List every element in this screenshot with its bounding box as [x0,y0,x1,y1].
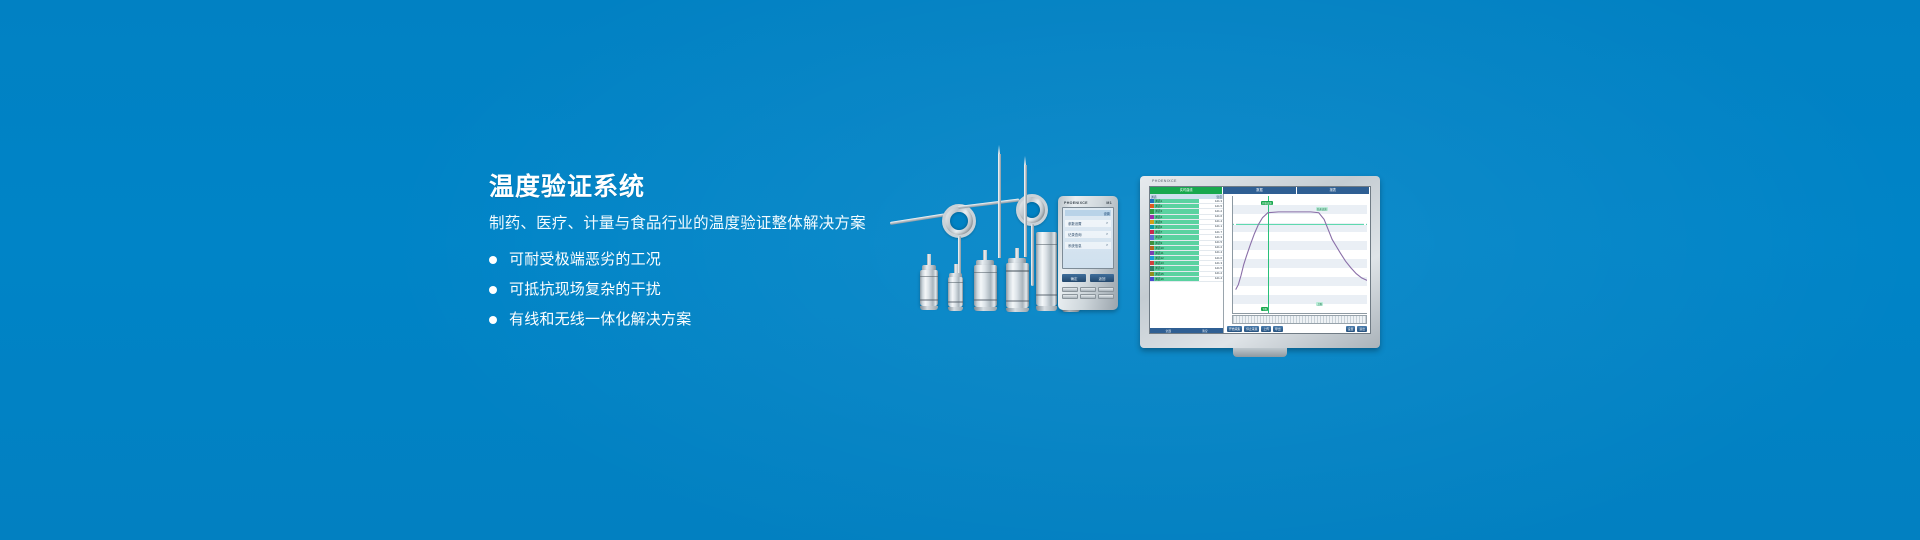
select-all-button[interactable]: 全选 [1165,329,1171,333]
chevron-right-icon: > [1106,243,1108,248]
start-acquisition-button[interactable]: 开始采集 [1227,326,1242,332]
channel-name-cell: 通道6 [1154,225,1199,229]
logger-base [974,307,997,311]
stop-acquisition-button[interactable]: 停止采集 [1244,326,1259,332]
channel-name-cell: 通道16 [1154,277,1199,281]
channel-name-cell: 通道4 [1154,215,1199,219]
feature-bullet-label: 可耐受极端恶劣的工况 [509,251,661,269]
handheld-key[interactable] [1080,287,1096,292]
channel-name-cell: 通道15 [1154,272,1199,276]
exit-button[interactable]: 退出 [1357,326,1367,332]
logger-base [1036,306,1057,311]
feature-bullet-label: 可抵抗现场复杂的干扰 [509,281,661,299]
logger-neck [1015,248,1019,258]
handheld-key[interactable] [1062,287,1078,292]
handheld-menu-item[interactable]: 参数设置 > [1065,220,1111,227]
validation-software-monitor: PHOENIXCE 实时曲线 数据 报表 通道 温度 通道1121.3通道212… [1140,176,1380,348]
column-header-channel: 通道 [1151,195,1157,199]
channel-name-cell: 通道9 [1154,241,1199,245]
channel-name-cell: 通道2 [1154,204,1199,208]
tab-realtime-curve[interactable]: 实时曲线 [1150,187,1223,194]
handheld-key[interactable] [1098,287,1114,292]
needle-tip-icon [998,145,1000,154]
logger-body [1036,232,1057,306]
monitor-screen: 实时曲线 数据 报表 通道 温度 通道1121.3通道2121.5通道3121.… [1149,186,1371,334]
handheld-brand-label: PHOENIXCE [1064,201,1088,205]
handheld-menu-item[interactable]: 系统信息 > [1065,242,1111,249]
temperature-curve-chart: 开始灭菌 结束灭菌 下限 上限 [1232,196,1367,314]
logger-body [1006,263,1029,308]
channel-name-cell: 通道7 [1154,230,1199,234]
bullet-dot-icon [489,286,497,294]
handheld-menu-label: 系统信息 [1068,243,1082,248]
handheld-back-button[interactable]: 返回 [1090,274,1114,282]
hero-banner: 温度验证系统 制药、医疗、计量与食品行业的温度验证整体解决方案 可耐受极端恶劣的… [0,0,1920,540]
monitor-button-bar: 开始采集 停止采集 上传 导出 设置 退出 [1224,325,1370,333]
logger-base [948,307,963,311]
monitor-brand-label: PHOENIXCE [1152,179,1177,183]
chevron-right-icon: > [1106,221,1108,226]
handheld-key[interactable] [1080,294,1096,299]
hero-subtitle: 制药、医疗、计量与食品行业的温度验证整体解决方案 [489,215,959,234]
feature-bullet-3: 有线和无线一体化解决方案 [489,311,959,329]
feature-bullet-2: 可抵抗现场复杂的干扰 [489,281,959,299]
probe-stem [1031,224,1034,286]
table-row[interactable]: 通道16121.4 [1150,277,1223,282]
chevron-right-icon: > [1106,232,1108,237]
needle-shaft [998,154,1001,258]
logger-base [1006,308,1029,312]
channel-name-cell: 通道14 [1154,266,1199,270]
upload-button[interactable]: 上传 [1261,326,1271,332]
handheld-menu-item[interactable]: 记录查询 > [1065,231,1111,238]
button-bar-spacer [1285,326,1344,332]
timeline-scroll-strip[interactable] [1232,315,1367,324]
logger-body [974,265,997,307]
channel-name-cell: 通道5 [1154,220,1199,224]
bullet-dot-icon [489,256,497,264]
monitor-tab-bar: 实时曲线 数据 报表 [1150,187,1370,194]
monitor-stand [1233,348,1287,357]
channel-name-cell: 通道11 [1154,251,1199,255]
channel-table: 通道 温度 通道1121.3通道2121.5通道3121.2通道4121.6通道… [1150,194,1224,333]
channel-name-cell: 通道8 [1154,235,1199,239]
product-photo-group: PHOENIXCE M1 设置 参数设置 > 记录查询 > 系统信息 > [890,150,1510,390]
table-footer-row: 全选 清空 [1150,328,1223,333]
table-rows: 通道1121.3通道2121.5通道3121.2通道4121.6通道5121.4… [1150,199,1223,282]
handheld-button-row: 确定 返回 [1062,274,1114,282]
probe-coil-ring [1016,194,1048,226]
channel-value-cell: 121.4 [1199,276,1223,281]
handheld-screen: 设置 参数设置 > 记录查询 > 系统信息 > [1062,207,1114,269]
probe-wire [958,198,1020,208]
feature-bullet-label: 有线和无线一体化解决方案 [509,311,691,329]
channel-name-cell: 通道12 [1154,256,1199,260]
channel-name-cell: 通道1 [1154,199,1199,203]
handheld-key[interactable] [1062,294,1078,299]
logger-body [920,270,938,306]
channel-name-cell: 通道13 [1154,261,1199,265]
clear-button[interactable]: 清空 [1202,329,1208,333]
logger-neck [983,250,987,260]
probe-coil-ring [942,204,976,238]
tab-report[interactable]: 报表 [1297,187,1370,194]
curve-path [1233,196,1367,313]
monitor-body: 通道 温度 通道1121.3通道2121.5通道3121.2通道4121.6通道… [1150,194,1370,333]
hero-text-block: 温度验证系统 制药、医疗、计量与食品行业的温度验证整体解决方案 可耐受极端恶劣的… [489,174,959,341]
settings-button[interactable]: 设置 [1346,326,1356,332]
needle-shaft [1024,165,1027,257]
handheld-model-label: M1 [1106,201,1112,205]
bullet-dot-icon [489,316,497,324]
handheld-menu-label: 记录查询 [1068,232,1082,237]
chart-panel: 开始灭菌 结束灭菌 下限 上限 开始采集 [1224,194,1370,333]
channel-name-cell: 通道3 [1154,209,1199,213]
handheld-screen-title: 设置 [1065,210,1111,216]
logger-base [920,306,938,310]
handheld-menu-label: 参数设置 [1068,221,1082,226]
logger-body [948,277,963,307]
handheld-keypad[interactable] [1062,287,1114,299]
page-title: 温度验证系统 [489,174,959,202]
handheld-key[interactable] [1098,294,1114,299]
logger-neck [954,264,958,273]
probe-wire [890,213,946,224]
feature-bullet-1: 可耐受极端恶劣的工况 [489,251,959,269]
handheld-confirm-button[interactable]: 确定 [1062,274,1086,282]
handheld-reader[interactable]: PHOENIXCE M1 设置 参数设置 > 记录查询 > 系统信息 > [1058,196,1118,310]
logger-neck [927,254,931,265]
needle-tip-icon [1024,156,1026,165]
export-button[interactable]: 导出 [1273,326,1283,332]
tab-data[interactable]: 数据 [1223,187,1296,194]
channel-name-cell: 通道10 [1154,246,1199,250]
